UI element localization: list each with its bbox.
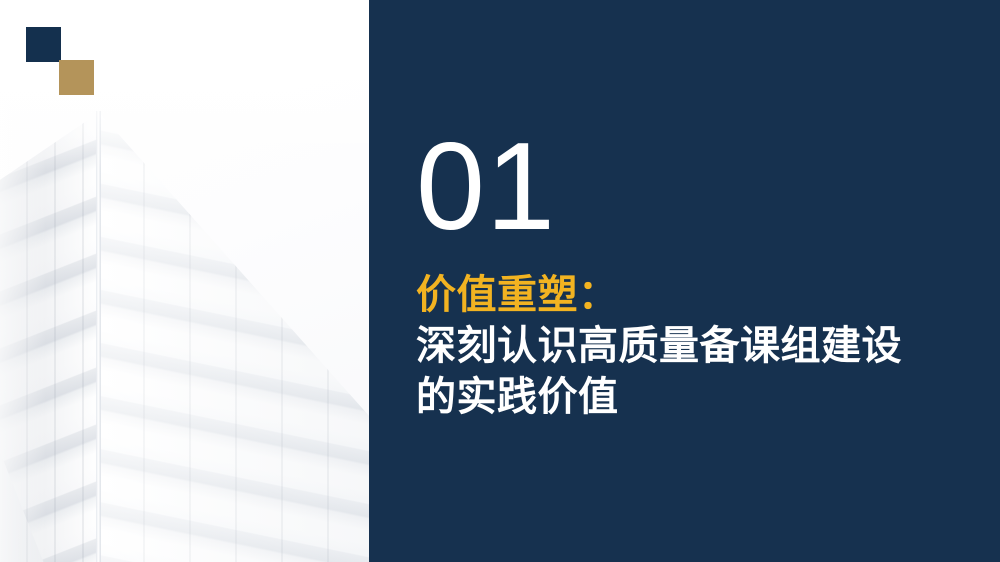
headline-line-3: 的实践价值 [416, 372, 976, 423]
section-headline: 价值重塑： 深刻认识高质量备课组建设 的实践价值 [416, 270, 976, 423]
gold-square-icon [59, 60, 94, 95]
building-photo-panel [0, 0, 369, 562]
building-corner-edge [96, 111, 101, 562]
headline-line-2: 深刻认识高质量备课组建设 [416, 321, 976, 372]
section-divider-slide: 01 价值重塑： 深刻认识高质量备课组建设 的实践价值 [0, 0, 1000, 562]
photo-left-fade [0, 0, 46, 562]
navy-content-panel: 01 价值重塑： 深刻认识高质量备课组建设 的实践价值 [369, 0, 1000, 562]
headline-line-1: 价值重塑： [416, 270, 976, 321]
photo-top-fade [0, 0, 369, 170]
navy-square-icon [26, 27, 61, 62]
section-number: 01 [416, 125, 556, 249]
